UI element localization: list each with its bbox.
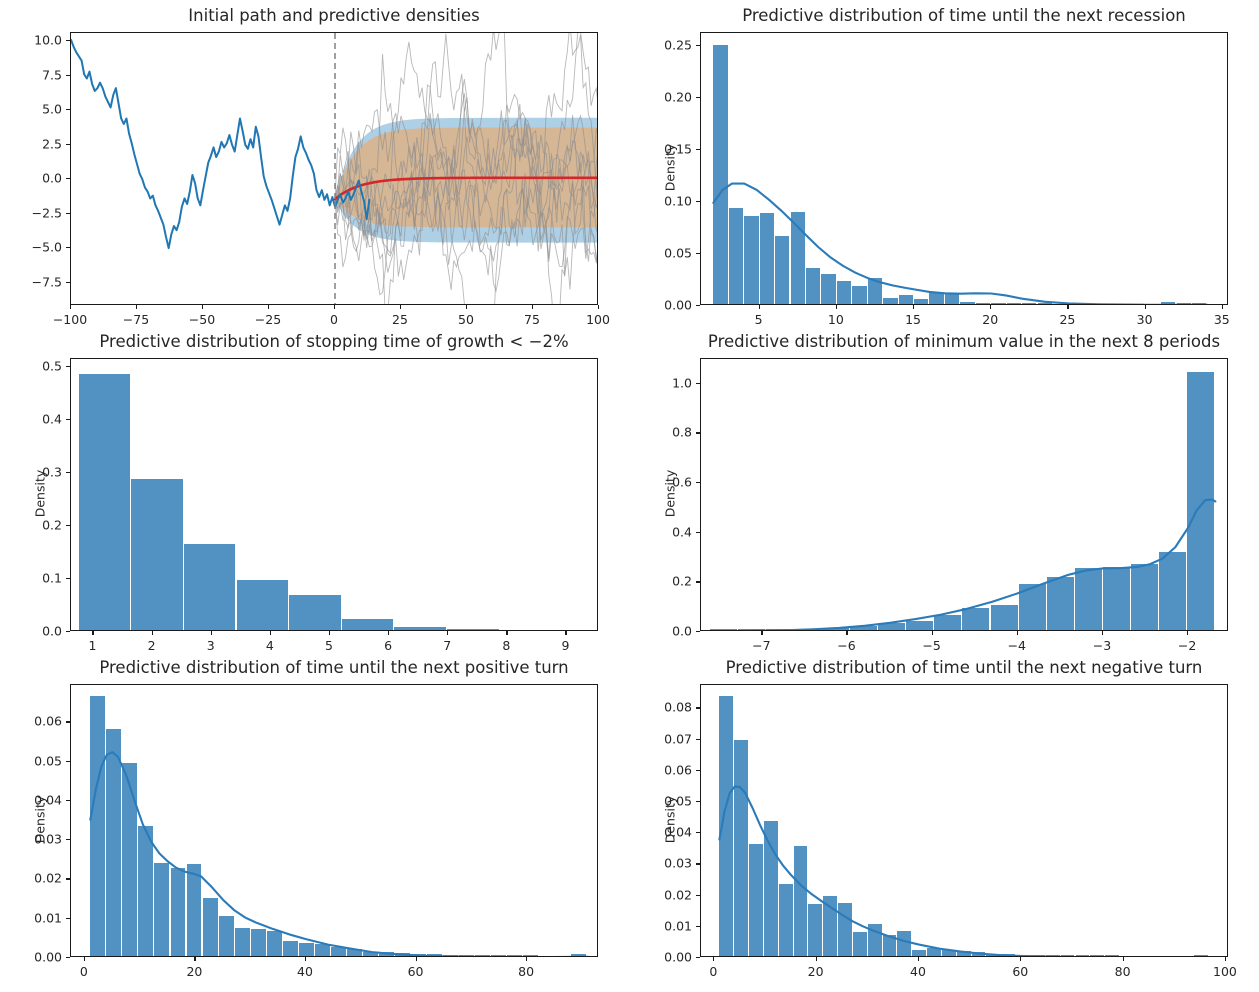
x-tick-mark bbox=[506, 631, 507, 635]
x-tick-mark bbox=[1187, 631, 1188, 635]
y-tick-mark bbox=[66, 178, 70, 179]
y-tick-label: 0.04 bbox=[34, 792, 62, 807]
panel-title: Predictive distribution of time until th… bbox=[660, 658, 1259, 677]
x-tick-mark bbox=[913, 305, 914, 309]
x-tick-mark bbox=[268, 305, 269, 309]
y-tick-label: 0.00 bbox=[34, 950, 62, 965]
x-tick-label: −5 bbox=[922, 638, 940, 653]
y-tick-label: 0.15 bbox=[664, 141, 692, 156]
x-tick-mark bbox=[990, 305, 991, 309]
x-tick-mark bbox=[761, 631, 762, 635]
y-tick-mark bbox=[696, 149, 700, 150]
y-tick-label: 0.05 bbox=[664, 794, 692, 809]
x-tick-label: 20 bbox=[186, 964, 202, 979]
figure-canvas: Initial path and predictive densities10.… bbox=[0, 0, 1259, 992]
y-tick-mark bbox=[696, 801, 700, 802]
plot-clip bbox=[701, 33, 1227, 304]
y-tick-mark bbox=[66, 578, 70, 579]
x-tick-label: 60 bbox=[408, 964, 424, 979]
plot-area bbox=[70, 358, 598, 631]
y-tick-label: 0.05 bbox=[664, 245, 692, 260]
x-tick-mark bbox=[1067, 305, 1068, 309]
y-tick-label: −7.5 bbox=[32, 274, 62, 289]
y-tick-mark bbox=[696, 253, 700, 254]
y-tick-label: 0.2 bbox=[42, 517, 62, 532]
x-tick-label: 35 bbox=[1214, 312, 1230, 327]
y-tick-label: 0.06 bbox=[34, 714, 62, 729]
x-tick-mark bbox=[92, 631, 93, 635]
y-tick-label: 0.00 bbox=[664, 950, 692, 965]
x-tick-mark bbox=[270, 631, 271, 635]
y-tick-label: 0.0 bbox=[672, 624, 692, 639]
x-tick-label: 25 bbox=[392, 312, 408, 327]
y-tick-label: 0.25 bbox=[664, 37, 692, 52]
y-tick-label: 0.4 bbox=[42, 411, 62, 426]
histogram-bar bbox=[237, 580, 289, 630]
x-tick-mark bbox=[759, 305, 760, 309]
y-tick-mark bbox=[696, 926, 700, 927]
x-tick-label: 60 bbox=[1012, 964, 1028, 979]
x-tick-label: 8 bbox=[502, 638, 510, 653]
y-tick-mark bbox=[66, 918, 70, 919]
x-tick-mark bbox=[416, 957, 417, 961]
y-tick-mark bbox=[696, 383, 700, 384]
x-tick-label: 40 bbox=[297, 964, 313, 979]
panel-title: Predictive distribution of time until th… bbox=[30, 658, 638, 677]
x-tick-mark bbox=[1123, 957, 1124, 961]
panel-title: Predictive distribution of stopping time… bbox=[30, 332, 638, 351]
x-tick-label: −100 bbox=[53, 312, 87, 327]
x-tick-label: −75 bbox=[123, 312, 149, 327]
plot-clip bbox=[701, 359, 1227, 630]
kde-curve bbox=[713, 184, 1207, 304]
y-tick-label: 5.0 bbox=[42, 102, 62, 117]
y-tick-mark bbox=[696, 532, 700, 533]
x-tick-label: 20 bbox=[808, 964, 824, 979]
x-tick-label: 0 bbox=[709, 964, 717, 979]
x-tick-label: 3 bbox=[207, 638, 215, 653]
y-tick-mark bbox=[66, 109, 70, 110]
x-tick-label: −6 bbox=[837, 638, 855, 653]
y-tick-label: 0.03 bbox=[664, 856, 692, 871]
panel-title: Predictive distribution of minimum value… bbox=[660, 332, 1259, 351]
y-tick-mark bbox=[696, 957, 700, 958]
x-tick-label: 6 bbox=[384, 638, 392, 653]
x-tick-mark bbox=[136, 305, 137, 309]
x-tick-mark bbox=[598, 305, 599, 309]
x-tick-label: 9 bbox=[561, 638, 569, 653]
x-tick-mark bbox=[526, 957, 527, 961]
y-tick-label: 0.02 bbox=[34, 871, 62, 886]
x-tick-label: −3 bbox=[1093, 638, 1111, 653]
x-tick-mark bbox=[846, 631, 847, 635]
x-tick-label: 80 bbox=[1115, 964, 1131, 979]
y-tick-mark bbox=[696, 305, 700, 306]
observed-path-line bbox=[71, 40, 369, 248]
y-tick-label: 0.10 bbox=[664, 193, 692, 208]
x-tick-mark bbox=[329, 631, 330, 635]
x-tick-label: 100 bbox=[1213, 964, 1237, 979]
y-tick-mark bbox=[66, 472, 70, 473]
kde-curve bbox=[719, 786, 1210, 956]
x-tick-label: 5 bbox=[755, 312, 763, 327]
x-tick-mark bbox=[836, 305, 837, 309]
panel-title: Initial path and predictive densities bbox=[30, 6, 638, 25]
y-tick-label: 0.0 bbox=[42, 624, 62, 639]
y-tick-label: 2.5 bbox=[42, 136, 62, 151]
plot-area bbox=[700, 358, 1228, 631]
x-tick-mark bbox=[565, 631, 566, 635]
y-tick-mark bbox=[66, 761, 70, 762]
x-tick-mark bbox=[211, 631, 212, 635]
y-tick-mark bbox=[696, 707, 700, 708]
plot-area bbox=[700, 684, 1228, 957]
x-tick-mark bbox=[84, 957, 85, 961]
y-tick-mark bbox=[66, 878, 70, 879]
histogram-bar bbox=[184, 544, 236, 630]
y-tick-label: 0.01 bbox=[34, 910, 62, 925]
plot-area bbox=[70, 32, 598, 305]
y-tick-mark bbox=[696, 739, 700, 740]
x-tick-label: 2 bbox=[148, 638, 156, 653]
x-tick-mark bbox=[305, 957, 306, 961]
y-tick-mark bbox=[696, 482, 700, 483]
y-tick-label: 0.00 bbox=[664, 298, 692, 313]
y-tick-label: 0.0 bbox=[42, 171, 62, 186]
y-tick-label: 0.01 bbox=[664, 918, 692, 933]
y-tick-mark bbox=[696, 863, 700, 864]
x-tick-mark bbox=[1017, 631, 1018, 635]
y-tick-mark bbox=[696, 832, 700, 833]
y-tick-label: 0.04 bbox=[664, 825, 692, 840]
y-tick-label: 0.20 bbox=[664, 89, 692, 104]
kde-curve bbox=[710, 499, 1216, 630]
plot-area bbox=[700, 32, 1228, 305]
x-tick-label: 75 bbox=[524, 312, 540, 327]
x-tick-label: 5 bbox=[325, 638, 333, 653]
y-tick-mark bbox=[66, 282, 70, 283]
x-tick-label: 10 bbox=[828, 312, 844, 327]
histogram-bar bbox=[447, 629, 499, 630]
y-tick-label: 0.08 bbox=[664, 700, 692, 715]
panel-title: Predictive distribution of time until th… bbox=[660, 6, 1259, 25]
kde-curve bbox=[90, 752, 588, 956]
y-tick-label: 0.3 bbox=[42, 464, 62, 479]
x-tick-mark bbox=[152, 631, 153, 635]
y-tick-mark bbox=[66, 419, 70, 420]
y-tick-label: 0.05 bbox=[34, 753, 62, 768]
y-tick-label: 10.0 bbox=[34, 33, 62, 48]
plot-area bbox=[70, 684, 598, 957]
x-tick-label: 15 bbox=[905, 312, 921, 327]
y-tick-label: 0.06 bbox=[664, 762, 692, 777]
x-tick-label: −25 bbox=[255, 312, 281, 327]
x-tick-mark bbox=[400, 305, 401, 309]
y-tick-mark bbox=[66, 144, 70, 145]
x-tick-mark bbox=[194, 957, 195, 961]
y-tick-mark bbox=[66, 631, 70, 632]
x-tick-label: −2 bbox=[1178, 638, 1196, 653]
x-tick-label: 25 bbox=[1059, 312, 1075, 327]
y-tick-label: 7.5 bbox=[42, 67, 62, 82]
x-tick-mark bbox=[1145, 305, 1146, 309]
y-tick-mark bbox=[66, 213, 70, 214]
x-tick-mark bbox=[1222, 305, 1223, 309]
y-tick-mark bbox=[696, 770, 700, 771]
y-tick-mark bbox=[66, 525, 70, 526]
plot-clip bbox=[71, 33, 597, 304]
y-tick-mark bbox=[696, 895, 700, 896]
y-axis-label: Density bbox=[663, 463, 678, 523]
plot-clip bbox=[71, 685, 597, 956]
x-tick-mark bbox=[388, 631, 389, 635]
y-tick-mark bbox=[696, 432, 700, 433]
y-tick-mark bbox=[66, 839, 70, 840]
x-tick-mark bbox=[447, 631, 448, 635]
x-tick-label: 4 bbox=[266, 638, 274, 653]
y-tick-label: 0.1 bbox=[42, 570, 62, 585]
y-tick-label: 0.5 bbox=[42, 358, 62, 373]
x-tick-mark bbox=[1102, 631, 1103, 635]
x-tick-mark bbox=[918, 957, 919, 961]
x-tick-label: 1 bbox=[88, 638, 96, 653]
x-tick-label: 0 bbox=[80, 964, 88, 979]
x-tick-mark bbox=[1225, 957, 1226, 961]
y-tick-label: 0.2 bbox=[672, 574, 692, 589]
y-tick-label: 1.0 bbox=[672, 375, 692, 390]
y-tick-label: 0.6 bbox=[672, 475, 692, 490]
y-axis-label: Density bbox=[33, 789, 48, 849]
plot-clip bbox=[701, 685, 1227, 956]
y-tick-label: 0.4 bbox=[672, 524, 692, 539]
y-tick-mark bbox=[66, 40, 70, 41]
y-tick-mark bbox=[66, 247, 70, 248]
x-tick-label: 80 bbox=[518, 964, 534, 979]
histogram-bar bbox=[131, 479, 183, 630]
y-tick-mark bbox=[66, 366, 70, 367]
x-tick-label: 100 bbox=[586, 312, 610, 327]
plot-clip bbox=[71, 359, 597, 630]
y-tick-label: −2.5 bbox=[32, 205, 62, 220]
x-tick-label: 50 bbox=[458, 312, 474, 327]
histogram-bar bbox=[394, 627, 446, 630]
y-tick-mark bbox=[696, 97, 700, 98]
x-tick-mark bbox=[1020, 957, 1021, 961]
x-tick-mark bbox=[713, 957, 714, 961]
x-tick-mark bbox=[466, 305, 467, 309]
x-tick-mark bbox=[532, 305, 533, 309]
y-axis-label: Density bbox=[663, 137, 678, 197]
x-tick-mark bbox=[816, 957, 817, 961]
y-tick-mark bbox=[696, 581, 700, 582]
x-tick-label: 20 bbox=[982, 312, 998, 327]
histogram-bar bbox=[289, 595, 341, 630]
y-tick-label: 0.03 bbox=[34, 832, 62, 847]
y-axis-label: Density bbox=[663, 789, 678, 849]
histogram-bar bbox=[342, 619, 394, 630]
y-tick-mark bbox=[696, 631, 700, 632]
x-tick-label: 40 bbox=[910, 964, 926, 979]
y-axis-label: Density bbox=[33, 463, 48, 523]
x-tick-mark bbox=[932, 631, 933, 635]
y-tick-mark bbox=[66, 75, 70, 76]
y-tick-label: −5.0 bbox=[32, 240, 62, 255]
x-tick-label: −4 bbox=[1008, 638, 1026, 653]
y-tick-mark bbox=[66, 957, 70, 958]
x-tick-mark bbox=[334, 305, 335, 309]
x-tick-label: 30 bbox=[1137, 312, 1153, 327]
x-tick-mark bbox=[70, 305, 71, 309]
x-tick-label: 7 bbox=[443, 638, 451, 653]
y-tick-label: 0.07 bbox=[664, 731, 692, 746]
x-tick-label: −50 bbox=[189, 312, 215, 327]
y-tick-mark bbox=[66, 800, 70, 801]
x-tick-label: 0 bbox=[330, 312, 338, 327]
y-tick-label: 0.02 bbox=[664, 887, 692, 902]
histogram-bar bbox=[79, 374, 131, 630]
y-tick-mark bbox=[696, 45, 700, 46]
x-tick-label: −7 bbox=[752, 638, 770, 653]
x-tick-mark bbox=[202, 305, 203, 309]
y-tick-mark bbox=[696, 201, 700, 202]
y-tick-label: 0.8 bbox=[672, 425, 692, 440]
y-tick-mark bbox=[66, 721, 70, 722]
